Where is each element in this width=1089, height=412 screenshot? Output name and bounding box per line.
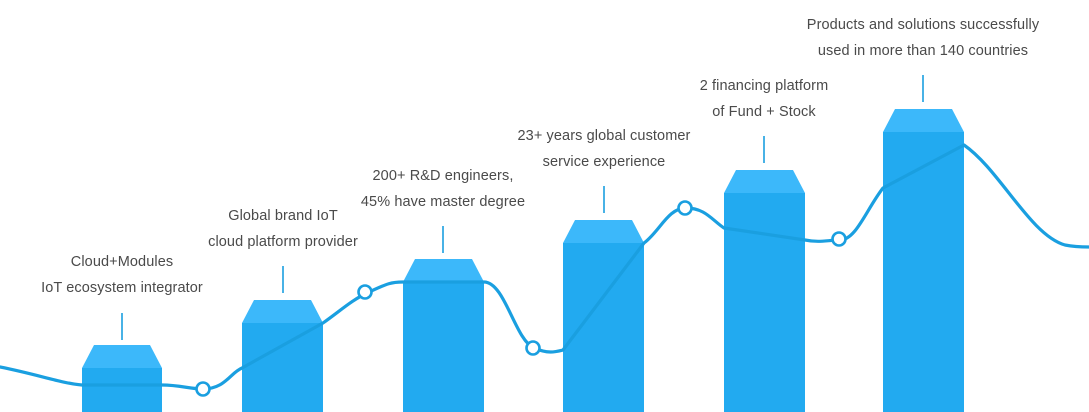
bar-top-face-6 — [883, 109, 964, 132]
annotation-label-4-line1: 23+ years global customer — [489, 123, 719, 149]
bar-front-face-1 — [82, 368, 162, 412]
annotation-label-3-line2: 45% have master degree — [338, 189, 548, 215]
bar-top-face-4 — [563, 220, 644, 243]
line-marker-3 — [527, 342, 540, 355]
infographic-canvas: Cloud+Modules IoT ecosystem integrator G… — [0, 0, 1089, 412]
annotation-label-2-line2: cloud platform provider — [183, 229, 383, 255]
bar-front-face-3 — [403, 282, 484, 412]
annotation-label-5: 2 financing platform of Fund + Stock — [664, 73, 864, 125]
bar-front-face-6 — [883, 132, 964, 412]
bar-top-face-1 — [82, 345, 162, 368]
bar-top-face-3 — [403, 259, 484, 282]
line-marker-4 — [679, 202, 692, 215]
annotation-label-1-line2: IoT ecosystem integrator — [22, 275, 222, 301]
annotation-label-5-line2: of Fund + Stock — [664, 99, 864, 125]
line-marker-2 — [359, 286, 372, 299]
line-marker-1 — [197, 383, 210, 396]
annotation-label-5-line1: 2 financing platform — [664, 73, 864, 99]
bar-group-1 — [82, 345, 162, 412]
line-marker-5 — [833, 233, 846, 246]
annotation-label-1: Cloud+Modules IoT ecosystem integrator — [22, 249, 222, 301]
annotation-label-6-line1: Products and solutions successfully — [783, 12, 1063, 38]
annotation-label-6-line2: used in more than 140 countries — [783, 38, 1063, 64]
bar-front-face-5 — [724, 193, 805, 412]
bar-top-face-2 — [242, 300, 323, 323]
bar-top-face-5 — [724, 170, 805, 193]
bar-front-face-4 — [563, 243, 644, 412]
bar-group-5 — [724, 170, 805, 412]
bar-group-6 — [883, 109, 964, 412]
annotation-label-4-line2: service experience — [489, 149, 719, 175]
bar-group-4 — [563, 220, 644, 412]
bar-front-face-2 — [242, 323, 323, 412]
annotation-label-6: Products and solutions successfully used… — [783, 12, 1063, 64]
bar-group-2 — [242, 300, 323, 412]
annotation-label-4: 23+ years global customer service experi… — [489, 123, 719, 175]
